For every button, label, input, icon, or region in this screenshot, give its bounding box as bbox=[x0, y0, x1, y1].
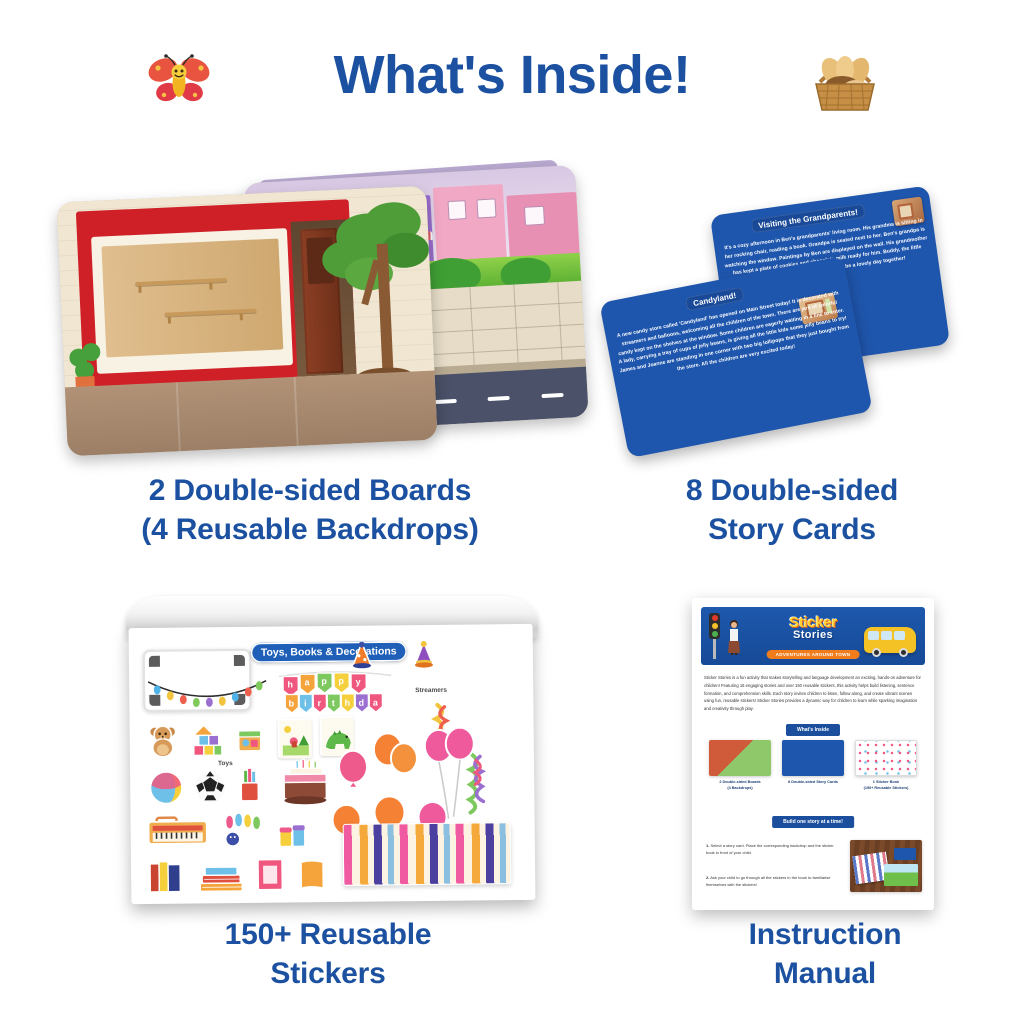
svg-text:t: t bbox=[332, 698, 335, 708]
caption-manual: Instruction Manual bbox=[660, 916, 990, 993]
toy-piano-sticker bbox=[147, 815, 209, 853]
caption-stickers-line1: 150+ Reusable bbox=[128, 916, 528, 955]
toy-box-sticker bbox=[236, 723, 264, 755]
party-hat-sticker bbox=[413, 641, 435, 674]
bowling-pins-sticker bbox=[221, 813, 265, 852]
manual-logo: Sticker Stories bbox=[789, 614, 837, 641]
book-sticker bbox=[297, 858, 327, 897]
svg-text:r: r bbox=[318, 698, 322, 708]
manual-sticker-book-thumb bbox=[855, 740, 917, 776]
caption-cards-line2: Story Cards bbox=[612, 511, 972, 550]
svg-text:y: y bbox=[356, 677, 361, 687]
manual-item-sublabel: (150+ Reusable Stickers) bbox=[852, 786, 920, 792]
manual-item-sublabel: (4 Backdrops) bbox=[706, 786, 774, 792]
paint-jars-sticker bbox=[277, 822, 311, 857]
traffic-light-pole bbox=[713, 639, 716, 659]
caption-boards-line1: 2 Double-sided Boards bbox=[60, 472, 560, 511]
manual-boards-thumb bbox=[709, 740, 771, 776]
svg-text:h: h bbox=[287, 679, 293, 689]
caption-manual-line2: Manual bbox=[660, 955, 990, 994]
picture-card-sticker bbox=[278, 718, 312, 758]
manual-step-2: 2. Ask your child to go through all the … bbox=[706, 874, 834, 888]
soccer-ball-sticker bbox=[192, 769, 228, 810]
double-sided-boards-image bbox=[62, 168, 582, 456]
manual-demo-photo bbox=[850, 840, 922, 892]
person-icon bbox=[727, 619, 741, 655]
sticker-book-image: Toys, Books & Decorations bbox=[126, 596, 538, 906]
sticker-sheet-page: Toys, Books & Decorations bbox=[129, 624, 536, 904]
birthday-cake-sticker bbox=[276, 758, 333, 816]
beach-ball-sticker bbox=[148, 770, 184, 811]
manual-step-number: 1. bbox=[706, 843, 709, 848]
caption-stickers-line2: Stickers bbox=[128, 955, 528, 994]
manual-intro-text: Sticker Stories is a fun activity that m… bbox=[704, 674, 922, 713]
manual-header-banner: Sticker Stories ADVENTURES AROUND TOWN bbox=[701, 607, 925, 665]
manual-step-text: Ask your child to go through all the sti… bbox=[706, 875, 831, 887]
svg-text:d: d bbox=[359, 698, 365, 708]
books-pile-sticker bbox=[197, 861, 245, 899]
backdrop-shop-scene bbox=[56, 186, 437, 457]
story-card-candyland: Candyland! A new candy store called 'Can… bbox=[599, 256, 873, 458]
toys-label: Toys bbox=[218, 760, 233, 767]
pencil-cup-sticker bbox=[236, 767, 262, 810]
manual-whats-inside-pill: What's Inside bbox=[786, 724, 840, 736]
traffic-light-icon bbox=[709, 613, 720, 639]
balloon-sticker bbox=[336, 750, 370, 797]
rug-sticker bbox=[343, 822, 512, 886]
caption-boards-line2: (4 Reusable Backdrops) bbox=[60, 511, 560, 550]
manual-tagline: ADVENTURES AROUND TOWN bbox=[767, 650, 860, 659]
butterfly-icon bbox=[146, 50, 212, 110]
instruction-manual-image: Sticker Stories ADVENTURES AROUND TOWN S… bbox=[692, 598, 934, 910]
manual-cards-thumb bbox=[782, 740, 844, 776]
svg-text:h: h bbox=[345, 698, 351, 708]
manual-step-number: 2. bbox=[706, 875, 709, 880]
whats-inside-infographic: What's Inside! bbox=[0, 0, 1024, 1024]
teddy-bear-sticker bbox=[148, 724, 178, 758]
caption-boards: 2 Double-sided Boards (4 Reusable Backdr… bbox=[60, 472, 560, 549]
manual-step-1: 1. Select a story card. Place the corres… bbox=[706, 842, 834, 856]
svg-text:p: p bbox=[321, 676, 327, 686]
story-cards-image: Visiting the Grandparents! It's a cozy a… bbox=[600, 200, 930, 450]
streamers-label: Streamers bbox=[415, 687, 447, 694]
bus-icon bbox=[864, 627, 916, 653]
caption-stickers: 150+ Reusable Stickers bbox=[128, 916, 528, 993]
svg-text:i: i bbox=[304, 698, 307, 708]
caption-cards-line1: 8 Double-sided bbox=[612, 472, 972, 511]
books-stack-sticker bbox=[147, 860, 187, 899]
manual-item-boards: 2 Double-sided Boards (4 Backdrops) bbox=[706, 740, 774, 791]
story-card-body: A new candy store called 'Candyland' has… bbox=[612, 289, 852, 385]
balloon-pair-sticker bbox=[370, 733, 421, 785]
manual-logo-line2: Stories bbox=[789, 629, 837, 641]
manual-item-cards: 8 Double-sided Story Cards bbox=[779, 740, 847, 786]
sticker-sheet-title: Toys, Books & Decorations bbox=[251, 641, 407, 663]
story-card-title: Candyland! bbox=[685, 287, 744, 312]
manual-item-label: 8 Double-sided Story Cards bbox=[779, 780, 847, 786]
bread-basket-icon bbox=[806, 48, 884, 114]
open-book-sticker bbox=[255, 856, 285, 897]
caption-manual-line1: Instruction bbox=[660, 916, 990, 955]
building-blocks-sticker bbox=[190, 723, 224, 757]
manual-build-story-pill: Build one story at a time! bbox=[772, 816, 854, 828]
bunting-lights-sticker bbox=[145, 677, 269, 708]
manual-step-text: Select a story card. Place the correspon… bbox=[706, 843, 834, 855]
shop-window-inner bbox=[101, 238, 283, 358]
caption-story-cards: 8 Double-sided Story Cards bbox=[612, 472, 972, 549]
svg-text:p: p bbox=[338, 676, 344, 686]
manual-item-sticker-book: 1 Sticker Book (150+ Reusable Stickers) bbox=[852, 740, 920, 791]
happy-birthday-banner-sticker: hap py bir thd a bbox=[277, 669, 393, 716]
svg-text:b: b bbox=[289, 698, 295, 708]
